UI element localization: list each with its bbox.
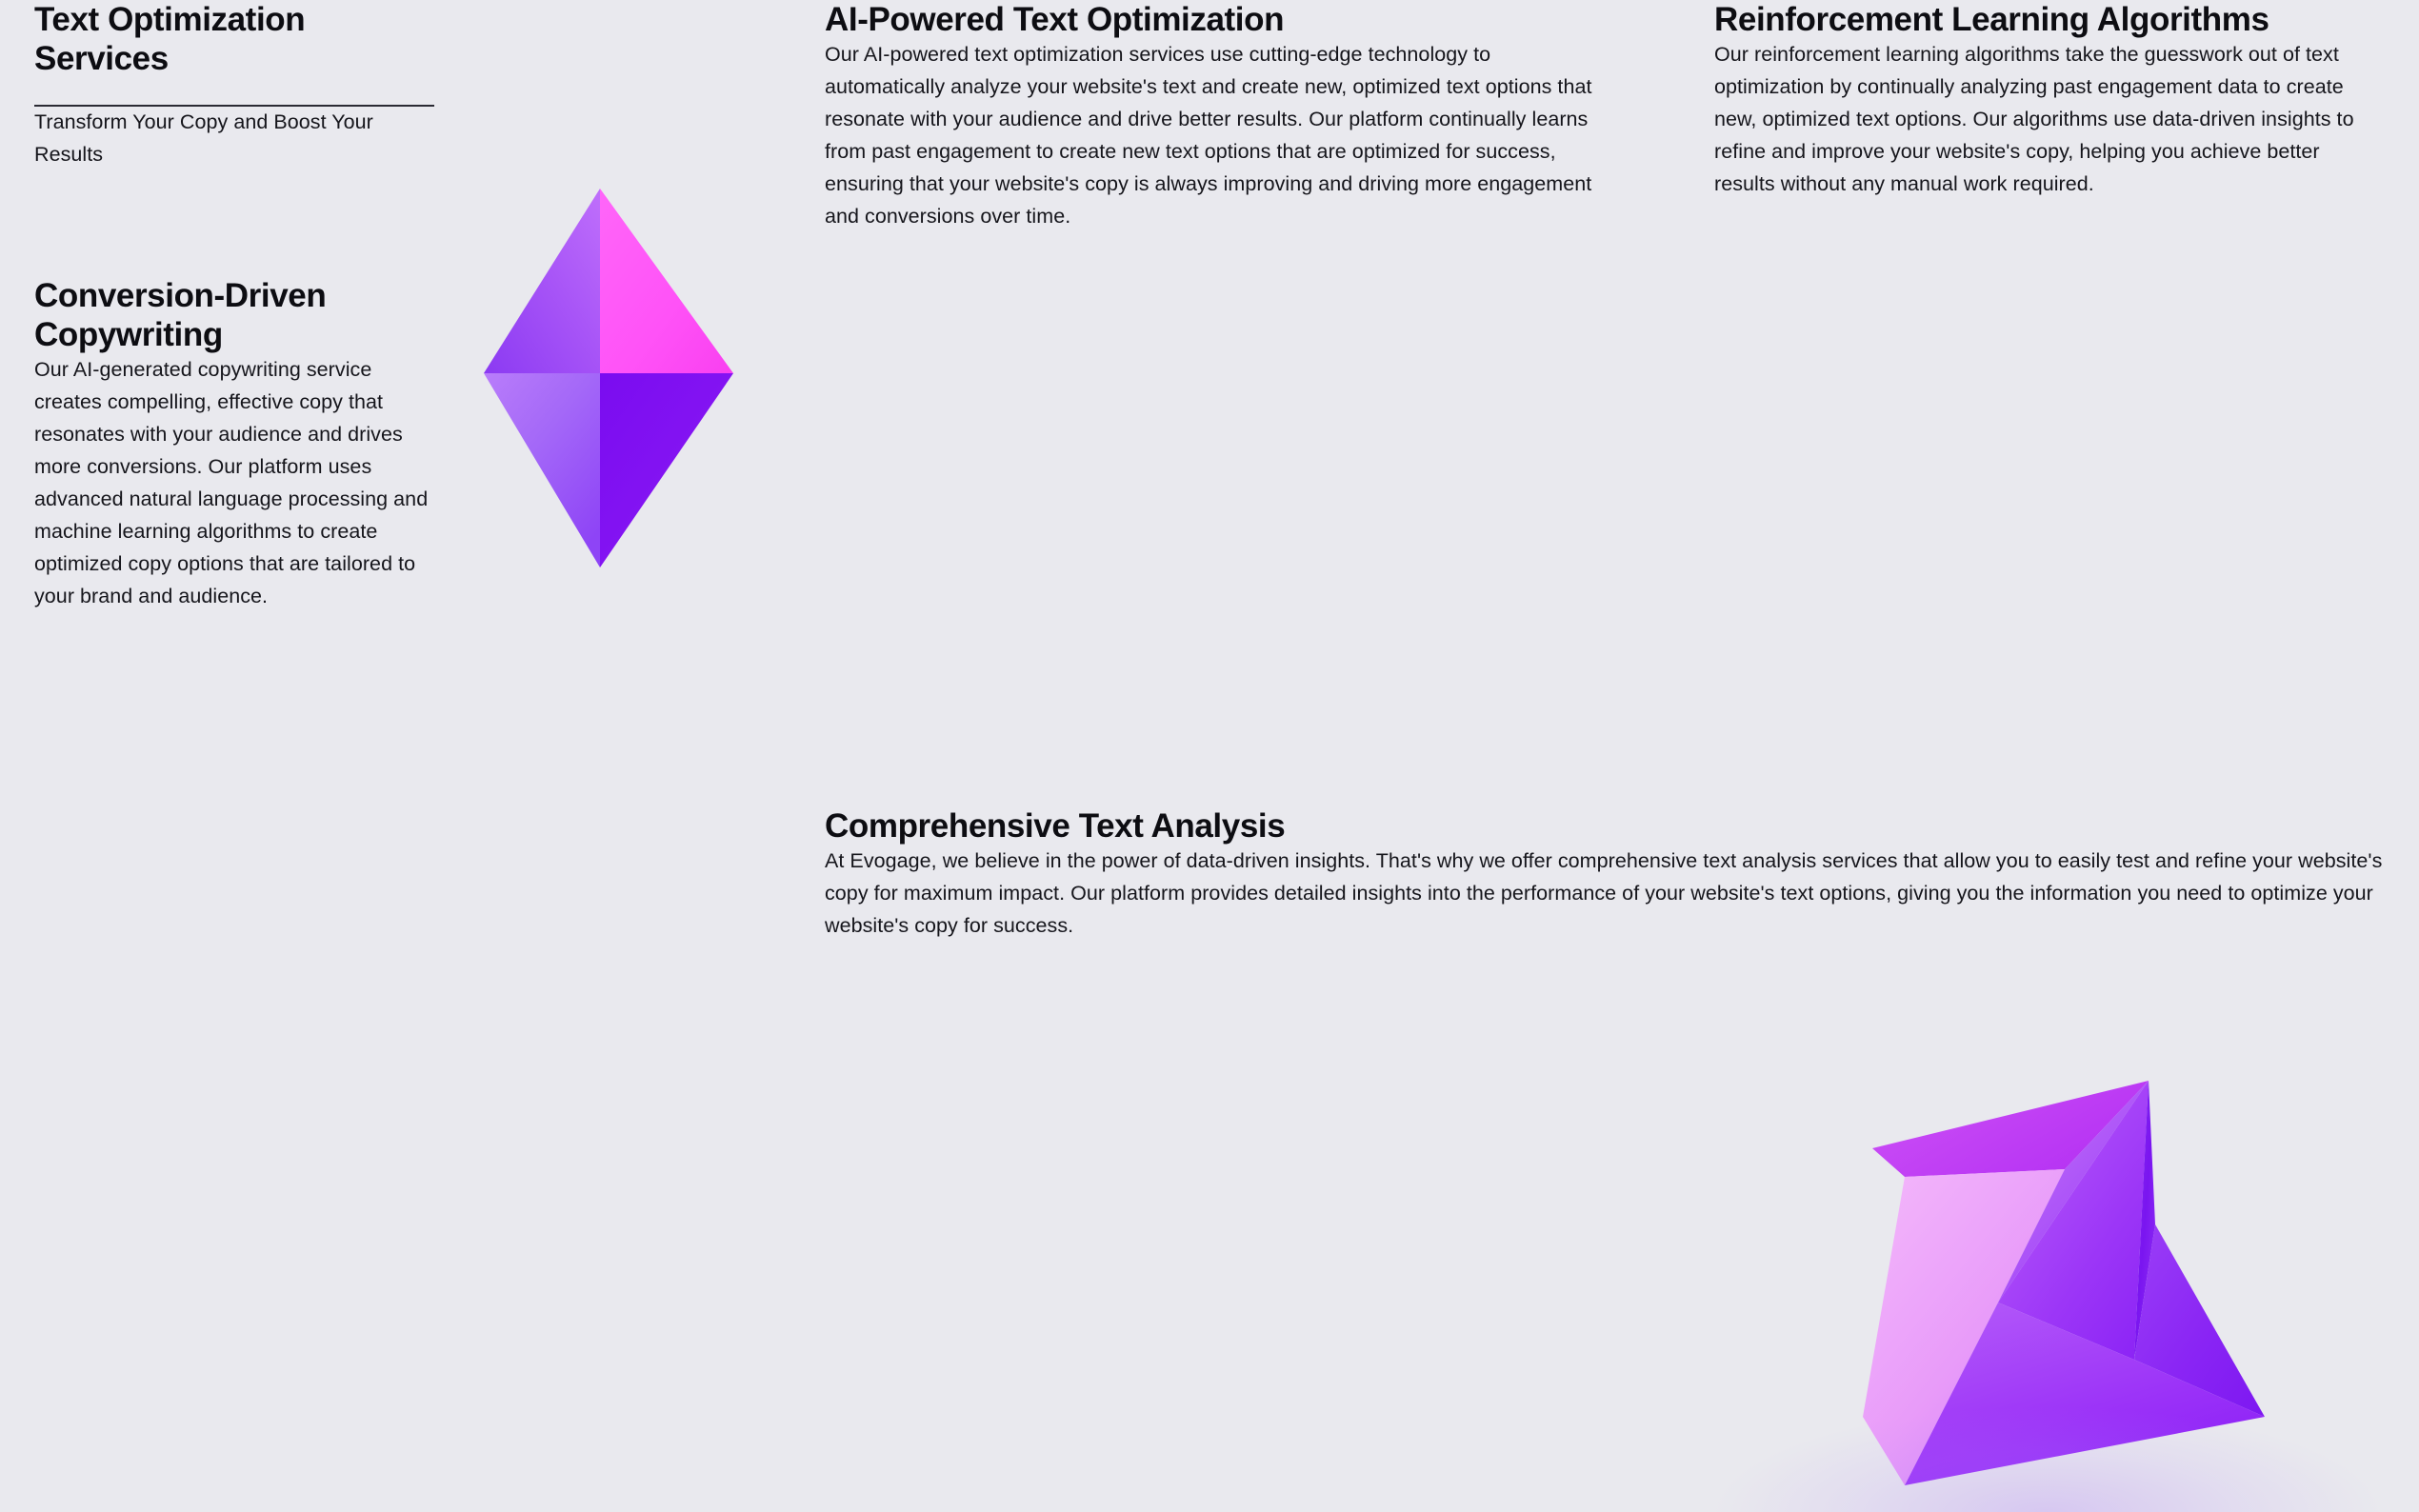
page-root: Text Optimization Services Transform You…	[0, 0, 2419, 1512]
comprehensive-text-analysis-section: Comprehensive Text Analysis At Evogage, …	[825, 806, 2387, 943]
left-spacer	[34, 171, 444, 276]
reinforcement-learning-body: Our reinforcement learning algorithms ta…	[1714, 39, 2381, 201]
conversion-copywriting-heading: Conversion-Driven Copywriting	[34, 276, 444, 355]
middle-column: AI-Powered Text Optimization Our AI-powe…	[825, 0, 1596, 233]
right-column: Reinforcement Learning Algorithms Our re…	[1714, 0, 2381, 201]
ai-powered-heading: AI-Powered Text Optimization	[825, 0, 1596, 39]
ambient-glow	[1676, 1371, 2419, 1512]
octahedron-diamond-icon	[484, 189, 733, 567]
left-lead-text: Transform Your Copy and Boost Your Resul…	[34, 107, 444, 171]
conversion-copywriting-body: Our AI-generated copywriting service cre…	[34, 354, 444, 613]
comprehensive-body: At Evogage, we believe in the power of d…	[825, 846, 2387, 943]
rotated-polyhedron-icon	[1855, 1074, 2331, 1502]
reinforcement-learning-heading: Reinforcement Learning Algorithms	[1714, 0, 2381, 39]
left-column: Text Optimization Services Transform You…	[34, 0, 444, 613]
ai-powered-body: Our AI-powered text optimization service…	[825, 39, 1596, 233]
page-title: Text Optimization Services	[34, 0, 444, 79]
comprehensive-heading: Comprehensive Text Analysis	[825, 806, 2387, 846]
